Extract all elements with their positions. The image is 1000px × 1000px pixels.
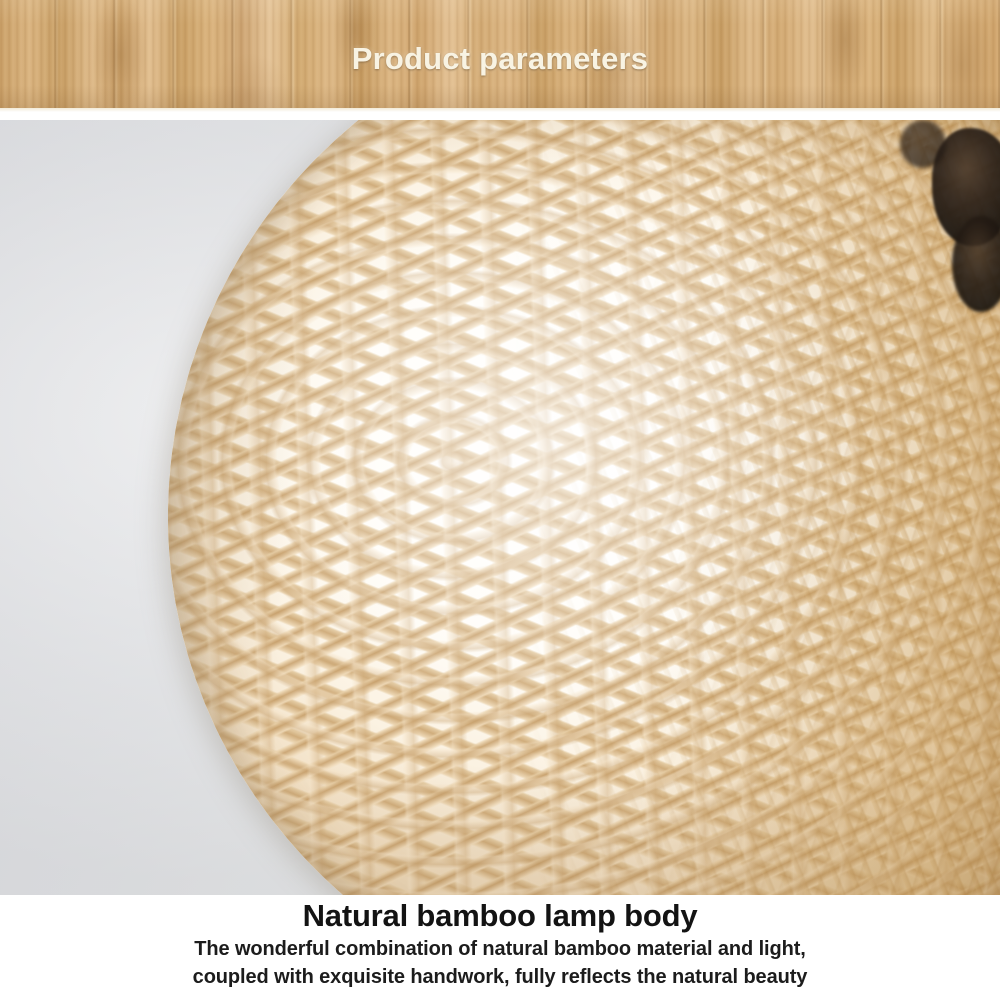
product-photo — [0, 120, 1000, 895]
caption-title: Natural bamboo lamp body — [0, 897, 1000, 935]
caption-description-line-1: The wonderful combination of natural bam… — [0, 935, 1000, 963]
banner-title: Product parameters — [0, 41, 1000, 77]
product-detail-page: Product parameters Natural bamboo lamp b… — [0, 0, 1000, 1000]
caption-description-line-2: coupled with exquisite handwork, fully r… — [0, 963, 1000, 991]
banner-bottom-edge — [0, 108, 1000, 112]
lamp-edge-rim — [168, 120, 1000, 895]
wood-banner: Product parameters — [0, 0, 1000, 112]
caption-block: Natural bamboo lamp body The wonderful c… — [0, 895, 1000, 1000]
lamp-cord-hardware-upper — [900, 120, 946, 168]
bamboo-lamp-shade — [168, 120, 1000, 895]
